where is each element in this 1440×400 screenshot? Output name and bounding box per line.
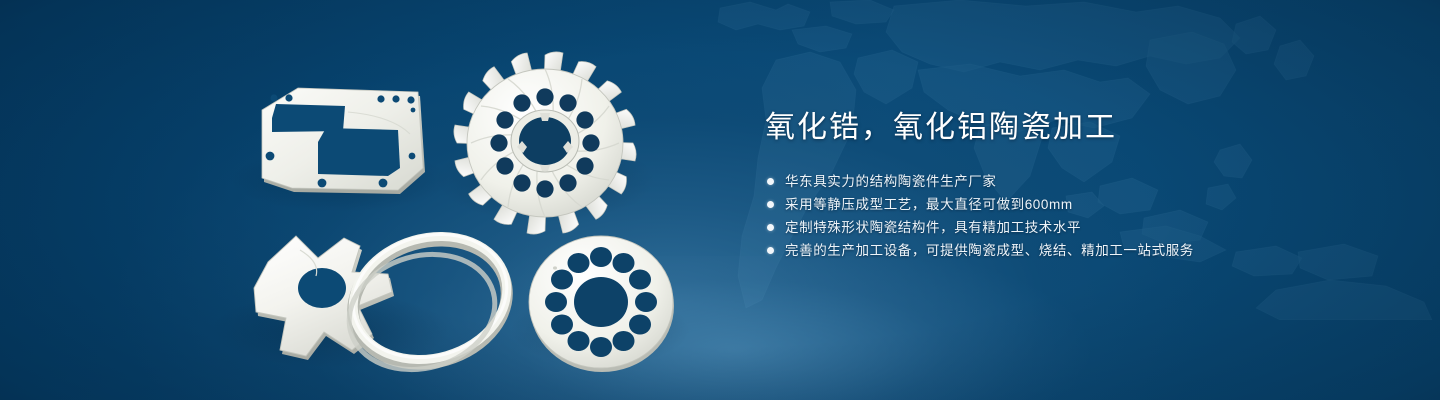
list-item: 定制特殊形状陶瓷结构件，具有精加工技术水平 — [767, 216, 1385, 239]
feature-list: 华东具实力的结构陶瓷件生产厂家 采用等静压成型工艺，最大直径可做到600mm 定… — [767, 170, 1385, 262]
feature-text: 采用等静压成型工艺，最大直径可做到600mm — [785, 193, 1073, 216]
bullet-dot-icon — [767, 178, 774, 185]
bullet-dot-icon — [767, 201, 774, 208]
page-title: 氧化锆，氧化铝陶瓷加工 — [765, 108, 1385, 148]
ceramic-plate-rectangular — [262, 88, 425, 194]
feature-text: 华东具实力的结构陶瓷件生产厂家 — [785, 170, 997, 193]
ceramic-processing-banner: 氧化锆，氧化铝陶瓷加工 华东具实力的结构陶瓷件生产厂家 采用等静压成型工艺，最大… — [0, 0, 1440, 400]
ceramic-perforated-disc — [529, 236, 674, 372]
bullet-dot-icon — [767, 224, 774, 231]
bullet-dot-icon — [767, 247, 774, 254]
list-item: 华东具实力的结构陶瓷件生产厂家 — [767, 170, 1385, 193]
feature-text: 完善的生产加工设备，可提供陶瓷成型、烧结、精加工一站式服务 — [785, 239, 1194, 262]
banner-copy: 氧化锆，氧化铝陶瓷加工 华东具实力的结构陶瓷件生产厂家 采用等静压成型工艺，最大… — [765, 108, 1385, 262]
feature-text: 定制特殊形状陶瓷结构件，具有精加工技术水平 — [785, 216, 1081, 239]
list-item: 完善的生产加工设备，可提供陶瓷成型、烧结、精加工一站式服务 — [767, 239, 1385, 262]
list-item: 采用等静压成型工艺，最大直径可做到600mm — [767, 193, 1385, 216]
ceramic-products-image — [0, 0, 740, 400]
